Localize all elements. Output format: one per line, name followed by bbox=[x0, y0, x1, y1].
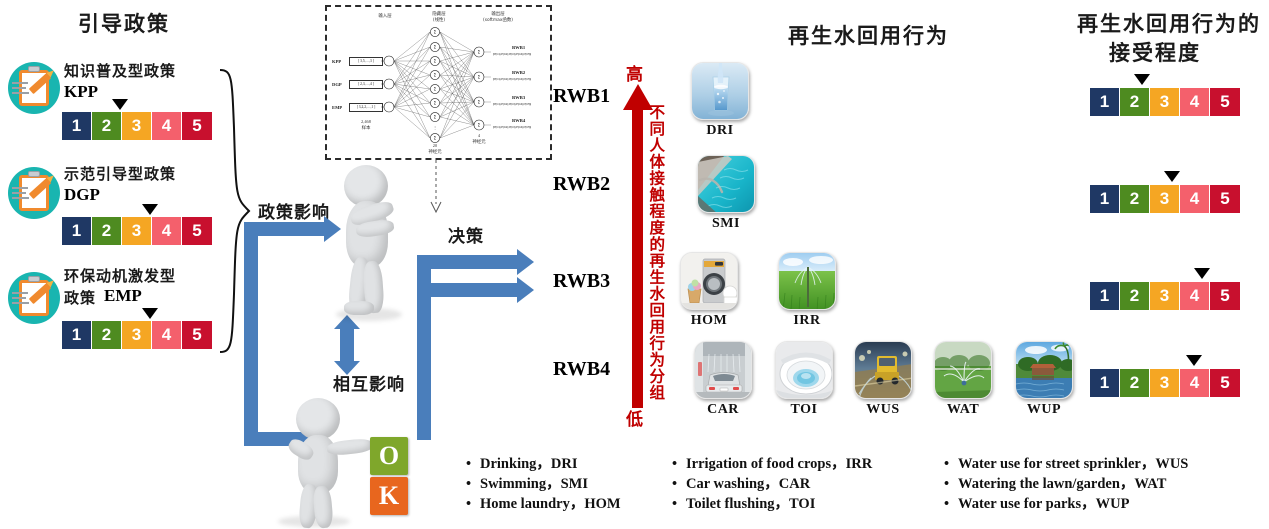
svg-text:⋮: ⋮ bbox=[433, 125, 437, 130]
legend-item: •Home laundry，HOM bbox=[466, 494, 621, 514]
scale-cell[interactable]: 2 bbox=[92, 217, 122, 245]
legend-item: •Toilet flushing，TOI bbox=[672, 494, 872, 514]
svg-text:Σ: Σ bbox=[434, 136, 437, 141]
acceptance-marker-rwb2 bbox=[1164, 171, 1180, 182]
behavior-code-irr: IRR bbox=[778, 313, 836, 329]
scale-cell[interactable]: 3 bbox=[1150, 185, 1180, 213]
behavior-code-wup: WUP bbox=[1015, 402, 1073, 418]
legend-item: •Water use for parks，WUP bbox=[944, 494, 1188, 514]
scale-cell[interactable]: 5 bbox=[182, 112, 212, 140]
nn-to-decision-connector bbox=[428, 160, 462, 218]
behavior-code-toi: TOI bbox=[775, 402, 833, 418]
legend-text: Toilet flushing，TOI bbox=[686, 496, 815, 512]
behavior-item-irr[interactable]: IRR bbox=[778, 252, 836, 329]
behavior-code-car: CAR bbox=[694, 402, 752, 418]
svg-text:Σ: Σ bbox=[434, 87, 437, 92]
behavior-code-dri: DRI bbox=[691, 123, 749, 139]
svg-text:Σ: Σ bbox=[434, 73, 437, 78]
svg-text:Σ: Σ bbox=[434, 115, 437, 120]
policy-label-emp-cn2: 政策 bbox=[64, 287, 96, 308]
acceptance-marker-rwb3 bbox=[1194, 268, 1210, 279]
contact-axis-high-label: 高 bbox=[626, 60, 643, 85]
bullet-icon: • bbox=[466, 474, 480, 494]
policy-scale-emp[interactable]: 1 2 3 4 5 bbox=[62, 321, 212, 349]
acceptance-scale-rwb3[interactable]: 1 2 3 4 5 bbox=[1090, 282, 1240, 310]
scale-cell[interactable]: 3 bbox=[1150, 369, 1180, 397]
bullet-icon: • bbox=[672, 494, 686, 514]
contact-axis-shaft bbox=[632, 108, 643, 408]
page-title-policies: 引导政策 bbox=[78, 8, 170, 38]
policy-marker-kpp bbox=[112, 99, 128, 110]
legend-text: Home laundry，HOM bbox=[480, 496, 621, 512]
contact-axis-low-label: 低 bbox=[626, 405, 643, 430]
contact-axis-vertical-label: 不同人体接触程度的再生水回用行为分组 bbox=[648, 104, 664, 404]
behavior-item-toi[interactable]: TOI bbox=[775, 341, 833, 418]
scale-cell[interactable]: 1 bbox=[1090, 369, 1120, 397]
nn-output-vector-rwb4: [P(C1),P(C2),P(C3),P(C4),P(C5)] bbox=[493, 125, 531, 129]
scale-cell[interactable]: 5 bbox=[1210, 185, 1240, 213]
scale-cell[interactable]: 1 bbox=[1090, 282, 1120, 310]
acceptance-scale-rwb4[interactable]: 1 2 3 4 5 bbox=[1090, 369, 1240, 397]
behavior-code-wus: WUS bbox=[854, 402, 912, 418]
nn-output-unit: 神经元 bbox=[466, 140, 492, 146]
svg-text:Σ: Σ bbox=[434, 45, 437, 50]
legend-item: •Drinking，DRI bbox=[466, 454, 621, 474]
nn-output-vector-rwb3: [P(C1),P(C2),P(C3),P(C4),P(C5)] bbox=[493, 102, 531, 106]
street-sprinkler-photo[interactable] bbox=[854, 341, 912, 399]
behavior-item-wat[interactable]: WAT bbox=[934, 341, 992, 418]
legend-item: •Swimming，SMI bbox=[466, 474, 621, 494]
blue-double-arrow-down-head bbox=[334, 361, 360, 375]
nn-output-vector-rwb1: [P(C1),P(C2),P(C3),P(C4),P(C5)] bbox=[493, 52, 531, 56]
blue-arrow-decision-run1 bbox=[417, 255, 517, 269]
svg-text:Σ: Σ bbox=[478, 75, 481, 80]
behavior-item-car[interactable]: CAR bbox=[694, 341, 752, 418]
scale-cell[interactable]: 3 bbox=[122, 217, 152, 245]
scale-cell[interactable]: 4 bbox=[152, 112, 182, 140]
behavior-item-hom[interactable]: HOM bbox=[680, 252, 738, 329]
scale-cell[interactable]: 5 bbox=[182, 217, 212, 245]
behavior-item-smi[interactable]: SMI bbox=[697, 155, 755, 232]
bullet-icon: • bbox=[944, 454, 958, 474]
legend-item: •Water use for street sprinkler，WUS bbox=[944, 454, 1188, 474]
blue-arrow-decision-head2 bbox=[517, 277, 534, 303]
toilet-photo[interactable] bbox=[775, 341, 833, 399]
cube-o: O bbox=[370, 437, 408, 475]
behavior-code-hom: HOM bbox=[680, 313, 738, 329]
blue-arrow-top-run bbox=[244, 222, 324, 236]
washing-machine-photo[interactable] bbox=[680, 252, 738, 310]
scale-cell[interactable]: 4 bbox=[1180, 369, 1210, 397]
legend-text: Swimming，SMI bbox=[480, 476, 588, 492]
park-water-photo[interactable] bbox=[1015, 341, 1073, 399]
svg-text:Σ: Σ bbox=[478, 123, 481, 128]
policy-code-kpp: KPP bbox=[64, 82, 98, 102]
legend-text: Water use for parks，WUP bbox=[958, 496, 1129, 512]
legend-text: Water use for street sprinkler，WUS bbox=[958, 456, 1188, 472]
scale-cell[interactable]: 2 bbox=[1120, 282, 1150, 310]
nn-hidden-count: 20 bbox=[421, 143, 449, 149]
policy-icon-dgp bbox=[8, 167, 60, 219]
policy-icon-kpp bbox=[8, 62, 60, 114]
nn-output-label-rwb1: RWB1 bbox=[512, 45, 525, 50]
svg-text:Σ: Σ bbox=[478, 100, 481, 105]
nn-hidden-unit: 神经元 bbox=[421, 150, 449, 156]
scale-cell[interactable]: 5 bbox=[1210, 88, 1240, 116]
nn-graph: ΣΣΣ ΣΣΣ ΣΣ ΣΣΣΣ ⋮ bbox=[327, 7, 554, 162]
scale-cell[interactable]: 1 bbox=[62, 217, 92, 245]
policy-marker-dgp bbox=[142, 204, 158, 215]
svg-text:Σ: Σ bbox=[478, 50, 481, 55]
scale-cell[interactable]: 1 bbox=[62, 112, 92, 140]
legend-text: Irrigation of food crops，IRR bbox=[686, 456, 872, 472]
scale-cell[interactable]: 2 bbox=[92, 321, 122, 349]
scale-cell[interactable]: 1 bbox=[1090, 88, 1120, 116]
scale-cell[interactable]: 5 bbox=[1210, 369, 1240, 397]
blue-arrow-decision-run2 bbox=[417, 283, 517, 297]
page-title-behaviors: 再生水回用行为 bbox=[788, 20, 949, 50]
scale-cell[interactable]: 1 bbox=[1090, 185, 1120, 213]
scale-cell[interactable]: 2 bbox=[92, 112, 122, 140]
acceptance-scale-rwb2[interactable]: 1 2 3 4 5 bbox=[1090, 185, 1240, 213]
scale-cell[interactable]: 4 bbox=[1180, 185, 1210, 213]
neural-network-diagram: 输入层 隐藏层 (线性) 输出层 (softmax函数) KPP [ 3,5,…… bbox=[325, 5, 552, 160]
acceptance-marker-rwb4 bbox=[1186, 355, 1202, 366]
blue-arrow-left-stem bbox=[244, 222, 258, 446]
scale-cell[interactable]: 4 bbox=[152, 321, 182, 349]
scale-cell[interactable]: 3 bbox=[1150, 88, 1180, 116]
legend-item: •Irrigation of food crops，IRR bbox=[672, 454, 872, 474]
behavior-code-smi: SMI bbox=[697, 216, 755, 232]
rwb-label-2: RWB2 bbox=[553, 173, 610, 196]
nn-output-count: 4 bbox=[466, 133, 492, 139]
behavior-code-wat: WAT bbox=[934, 402, 992, 418]
policy-code-emp: EMP bbox=[104, 286, 142, 306]
bullet-icon: • bbox=[466, 494, 480, 514]
policy-label-kpp-cn: 知识普及型政策 bbox=[64, 60, 176, 81]
bullet-icon: • bbox=[944, 494, 958, 514]
policy-label-emp-cn: 环保动机激发型 bbox=[64, 265, 176, 286]
scale-cell[interactable]: 2 bbox=[1120, 185, 1150, 213]
legend-text: Car washing，CAR bbox=[686, 476, 810, 492]
legend-text: Watering the lawn/garden，WAT bbox=[958, 476, 1166, 492]
behavior-item-wup[interactable]: WUP bbox=[1015, 341, 1073, 418]
scale-cell[interactable]: 4 bbox=[152, 217, 182, 245]
acceptance-scale-rwb1[interactable]: 1 2 3 4 5 bbox=[1090, 88, 1240, 116]
rwb-label-1: RWB1 bbox=[553, 85, 610, 108]
nn-output-label-rwb2: RWB2 bbox=[512, 70, 525, 75]
scale-cell[interactable]: 3 bbox=[1150, 282, 1180, 310]
cube-k: K bbox=[370, 477, 408, 515]
svg-text:Σ: Σ bbox=[434, 59, 437, 64]
policy-icon-emp bbox=[8, 272, 60, 324]
svg-text:Σ: Σ bbox=[434, 30, 437, 35]
scale-cell[interactable]: 2 bbox=[1120, 88, 1150, 116]
nn-output-label-rwb4: RWB4 bbox=[512, 118, 525, 123]
legend-column-3: •Water use for street sprinkler，WUS •Wat… bbox=[944, 454, 1188, 514]
policy-scale-dgp[interactable]: 1 2 3 4 5 bbox=[62, 217, 212, 245]
legend-column-1: •Drinking，DRI •Swimming，SMI •Home laundr… bbox=[466, 454, 621, 514]
nn-output-vector-rwb2: [P(C1),P(C2),P(C3),P(C4),P(C5)] bbox=[493, 77, 531, 81]
glass-of-water-photo[interactable] bbox=[691, 62, 749, 120]
scale-cell[interactable]: 4 bbox=[1180, 88, 1210, 116]
blue-double-arrow-shaft bbox=[340, 328, 354, 362]
acceptance-marker-rwb1 bbox=[1134, 74, 1150, 85]
rwb-label-3: RWB3 bbox=[553, 270, 610, 293]
scale-cell[interactable]: 3 bbox=[122, 321, 152, 349]
page-title-acceptance-line1: 再生水回用行为的 bbox=[1077, 8, 1261, 38]
thinking-person-figure bbox=[326, 165, 412, 325]
ok-person-figure bbox=[272, 398, 382, 528]
scale-cell[interactable]: 1 bbox=[62, 321, 92, 349]
policy-marker-emp bbox=[142, 308, 158, 319]
scale-cell[interactable]: 3 bbox=[122, 112, 152, 140]
svg-text:Σ: Σ bbox=[434, 101, 437, 106]
bullet-icon: • bbox=[672, 474, 686, 494]
legend-text: Drinking，DRI bbox=[480, 456, 578, 472]
legend-item: •Watering the lawn/garden，WAT bbox=[944, 474, 1188, 494]
policy-label-dgp-cn: 示范引导型政策 bbox=[64, 163, 176, 184]
rwb-label-4: RWB4 bbox=[553, 358, 610, 381]
page-title-acceptance-line2: 接受程度 bbox=[1109, 37, 1201, 67]
legend-column-2: •Irrigation of food crops，IRR •Car washi… bbox=[672, 454, 872, 514]
bullet-icon: • bbox=[466, 454, 480, 474]
scale-cell[interactable]: 4 bbox=[1180, 282, 1210, 310]
behavior-item-dri[interactable]: DRI bbox=[691, 62, 749, 139]
policy-code-dgp: DGP bbox=[64, 185, 100, 205]
legend-item: •Car washing，CAR bbox=[672, 474, 872, 494]
behavior-item-wus[interactable]: WUS bbox=[854, 341, 912, 418]
scale-cell[interactable]: 5 bbox=[182, 321, 212, 349]
swimming-pool-photo[interactable] bbox=[697, 155, 755, 213]
scale-cell[interactable]: 5 bbox=[1210, 282, 1240, 310]
crop-irrigation-photo[interactable] bbox=[778, 252, 836, 310]
flow-label-policy-influence: 政策影响 bbox=[258, 198, 330, 223]
policy-scale-kpp[interactable]: 1 2 3 4 5 bbox=[62, 112, 212, 140]
flow-label-decision: 决策 bbox=[448, 222, 484, 247]
lawn-sprinkler-photo[interactable] bbox=[934, 341, 992, 399]
bullet-icon: • bbox=[672, 454, 686, 474]
nn-output-label-rwb3: RWB3 bbox=[512, 95, 525, 100]
bullet-icon: • bbox=[944, 474, 958, 494]
blue-arrow-decision-head1 bbox=[517, 249, 534, 275]
car-wash-photo[interactable] bbox=[694, 341, 752, 399]
scale-cell[interactable]: 2 bbox=[1120, 369, 1150, 397]
